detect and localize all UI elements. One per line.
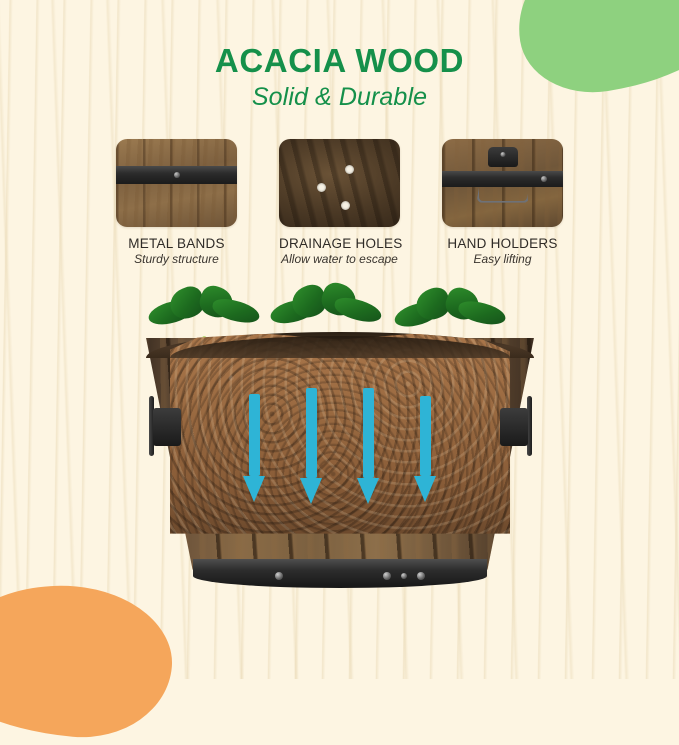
leaf-icon (210, 296, 261, 326)
handle-plate-icon (153, 408, 181, 446)
page-subtitle: Solid & Durable (0, 83, 679, 112)
feature-card-hand-holders[interactable]: HAND HOLDERS Easy lifting (442, 139, 563, 266)
water-drainage-arrow (357, 388, 379, 504)
rivet-icon (174, 172, 180, 178)
rivet-icon (417, 572, 425, 580)
metal-band-icon (116, 166, 237, 184)
handle-plate-icon (500, 408, 528, 446)
feature-title: HAND HOLDERS (442, 236, 563, 251)
feature-card-metal-bands[interactable]: METAL BANDS Sturdy structure (116, 139, 237, 266)
feature-list: METAL BANDS Sturdy structure DRAINAGE HO… (0, 139, 679, 266)
title-block: ACACIA WOOD Solid & Durable (0, 0, 679, 112)
seedling-plant (150, 282, 258, 342)
infographic-stage: ACACIA WOOD Solid & Durable METAL BANDS … (0, 0, 679, 679)
rivet-icon (401, 573, 407, 579)
hand-holder-closeup-photo (442, 139, 563, 227)
barrel-side-handle (500, 394, 534, 460)
drainage-hole-icon (341, 201, 350, 210)
drainage-hole-icon (345, 165, 354, 174)
water-drainage-arrow (300, 388, 322, 504)
rivet-icon (383, 572, 391, 580)
feature-subtitle: Easy lifting (442, 252, 563, 266)
planter-product-illustration (0, 276, 679, 626)
potting-soil (170, 334, 510, 534)
metal-band-closeup-photo (116, 139, 237, 227)
leaf-icon (457, 298, 508, 327)
rivet-icon (275, 572, 283, 580)
water-drainage-arrow (243, 394, 265, 502)
feature-title: METAL BANDS (116, 236, 237, 251)
feature-card-drainage-holes[interactable]: DRAINAGE HOLES Allow water to escape (279, 139, 400, 266)
seedling-plant (272, 280, 380, 340)
bottom-metal-band (193, 559, 487, 588)
page-title: ACACIA WOOD (0, 43, 679, 79)
rivet-icon (500, 152, 505, 157)
rivet-icon (541, 176, 547, 182)
barrel-side-handle (147, 394, 181, 460)
drainage-hole-icon (317, 183, 326, 192)
drainage-holes-closeup-photo (279, 139, 400, 227)
feature-subtitle: Allow water to escape (279, 252, 400, 266)
feature-subtitle: Sturdy structure (116, 252, 237, 266)
leaf-icon (332, 294, 383, 324)
water-drainage-arrow (414, 396, 436, 502)
feature-title: DRAINAGE HOLES (279, 236, 400, 251)
wire-handle-icon (477, 159, 529, 203)
